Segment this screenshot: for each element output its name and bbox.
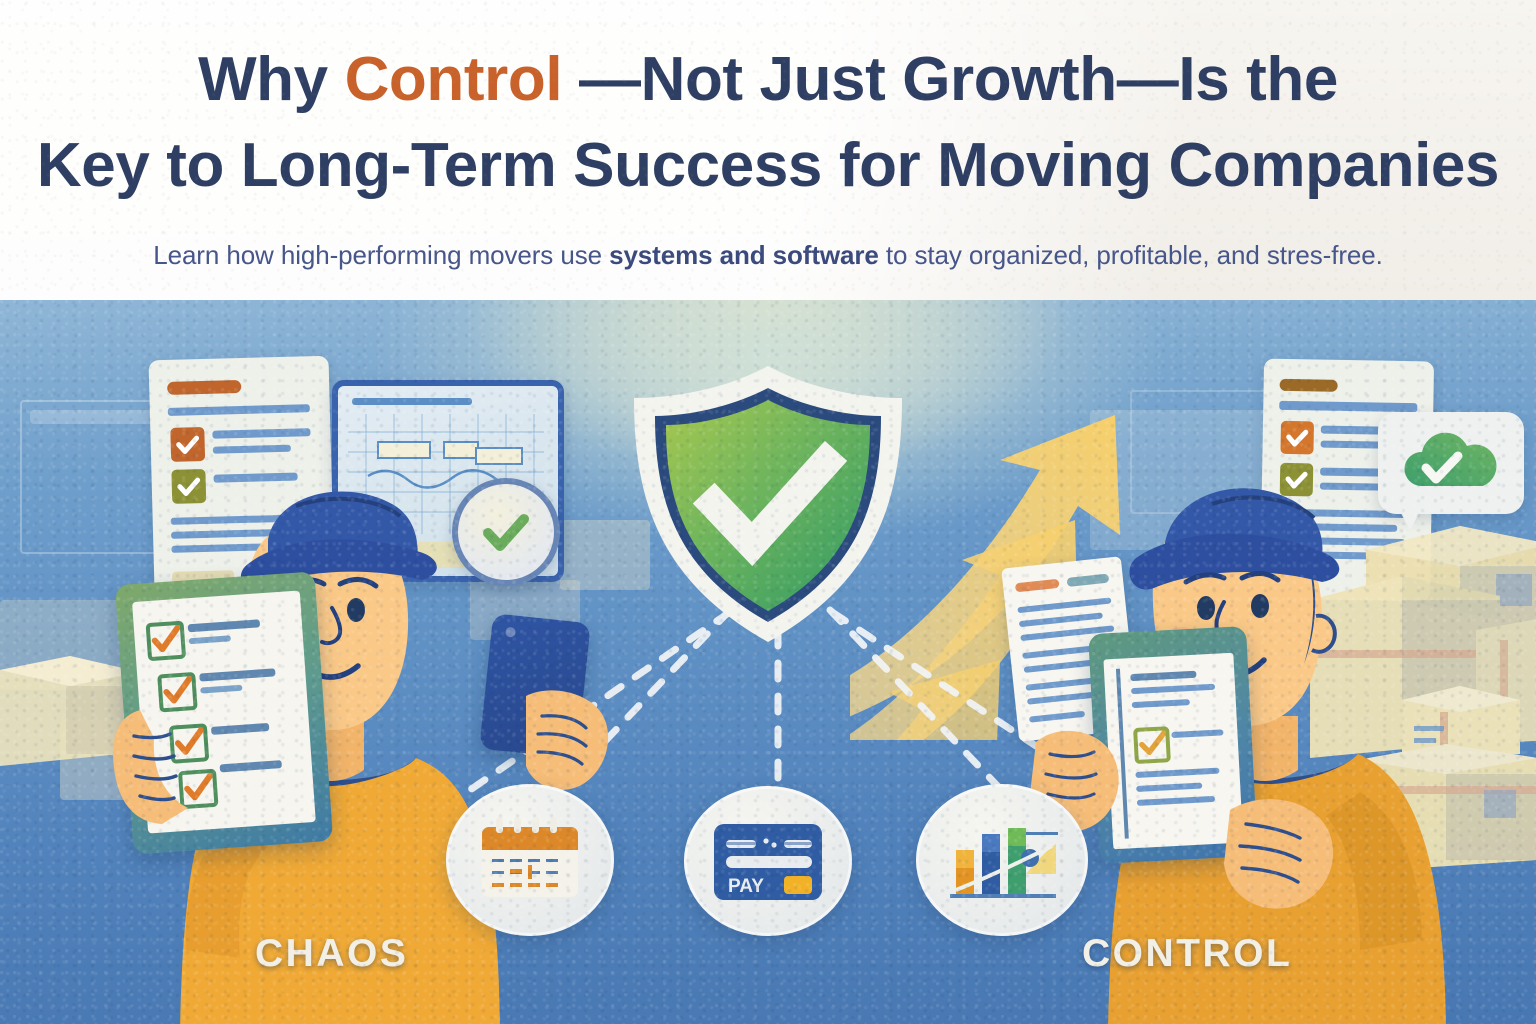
analytics-icon-circle[interactable] — [916, 784, 1088, 936]
page-title-line-2: Key to Long-Term Success for Moving Comp… — [0, 130, 1536, 201]
label-control: CONTROL — [1082, 932, 1292, 976]
left-worker-hand — [104, 690, 224, 850]
page-title-line-1: Why Control —Not Just Growth—Is the — [0, 44, 1536, 115]
calendar-icon-circle[interactable] — [446, 784, 614, 936]
page-subtitle: Learn how high-performing movers use sys… — [0, 240, 1536, 271]
doc-title-bar — [1015, 579, 1060, 593]
subtitle-suffix: to stay organized, profitable, and stres… — [879, 240, 1383, 270]
title-suffix: —Not Just Growth—Is the — [562, 45, 1338, 114]
illustration-scene: PAY CHAOS CONTROL — [0, 300, 1536, 1024]
title-accent-word: Control — [345, 45, 563, 114]
payment-card-label: PAY — [728, 876, 764, 897]
payment-card-icon: PAY — [710, 818, 826, 904]
card-title-bar — [167, 380, 241, 395]
subtitle-prefix: Learn how high-performing movers use — [153, 240, 609, 270]
screen-line — [352, 398, 472, 405]
calendar-icon — [476, 813, 584, 907]
doc-line — [1017, 597, 1111, 613]
header-band: Why Control —Not Just Growth—Is the Key … — [0, 0, 1536, 300]
title-prefix: Why — [198, 45, 345, 114]
doc-line — [1022, 645, 1098, 659]
card-line — [168, 404, 310, 416]
shield-check-icon — [618, 358, 918, 648]
subtitle-bold-phrase: systems and software — [609, 240, 879, 270]
card-title-bar — [1280, 379, 1338, 392]
doc-line — [1026, 678, 1094, 691]
right-worker-hand-right — [1210, 772, 1350, 922]
infographic-poster: Why Control —Not Just Growth—Is the Key … — [0, 0, 1536, 1024]
label-chaos: CHAOS — [255, 932, 408, 976]
payment-icon-circle[interactable]: PAY — [684, 786, 852, 936]
doc-line — [1019, 612, 1103, 627]
bar-chart-icon — [944, 818, 1060, 902]
card-line — [1279, 401, 1417, 412]
tablet-camera — [505, 627, 516, 638]
doc-title-bar — [1067, 574, 1110, 587]
checkbox-checked — [146, 621, 187, 662]
checkbox-checked — [1133, 726, 1171, 764]
